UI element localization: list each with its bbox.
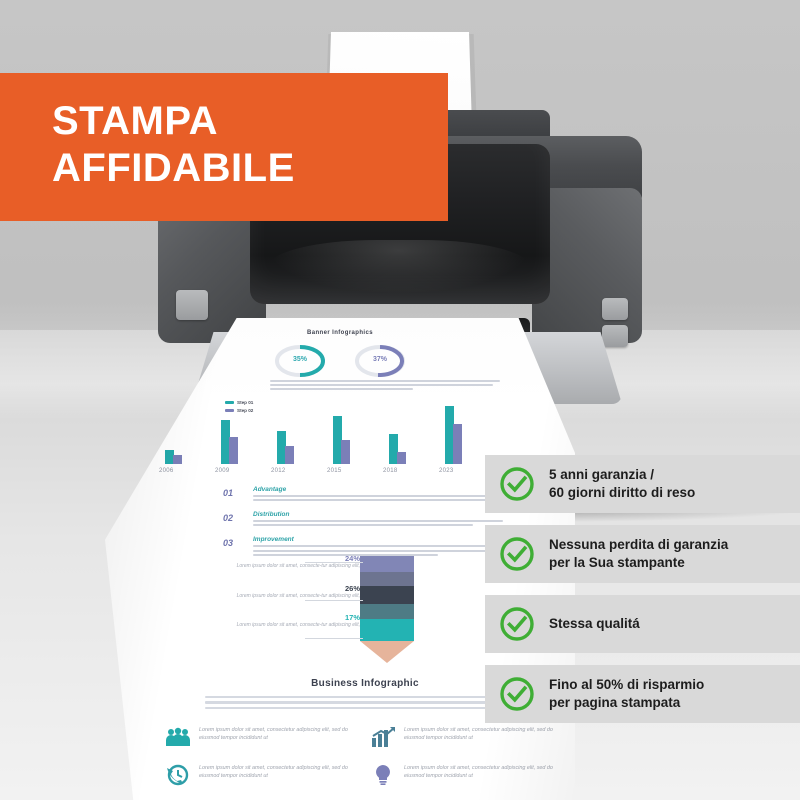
printer-button-left[interactable] — [176, 290, 208, 320]
printer-drum-gloss — [268, 240, 530, 294]
feature-card-text: Nessuna perdita di garanziaper la Sua st… — [549, 536, 728, 572]
check-circle-icon — [499, 466, 535, 502]
feature-card-text: Stessa qualitá — [549, 615, 640, 633]
headline-banner: STAMPAAFFIDABILE — [0, 73, 448, 221]
check-circle-icon — [499, 536, 535, 572]
printer-button-right-bottom[interactable] — [602, 325, 628, 347]
feature-card-text: Fino al 50% di risparmioper pagina stamp… — [549, 676, 704, 712]
feature-card-list: 5 anni garanzia /60 giorni diritto di re… — [485, 455, 800, 735]
feature-line-1: 5 anni garanzia / — [549, 467, 654, 482]
check-circle-icon — [499, 606, 535, 642]
feature-card-savings[interactable]: Fino al 50% di risparmioper pagina stamp… — [485, 665, 800, 723]
feature-line-1: Fino al 50% di risparmio — [549, 677, 704, 692]
headline-line-1: STAMPA — [52, 99, 218, 143]
feature-card-same-quality[interactable]: Stessa qualitá — [485, 595, 800, 653]
printer-button-right-top[interactable] — [602, 298, 628, 320]
feature-card-no-warranty-loss[interactable]: Nessuna perdita di garanziaper la Sua st… — [485, 525, 800, 583]
feature-line-2: per la Sua stampante — [549, 555, 685, 570]
poster-canvas: Banner Infographics 35% 37% — [0, 0, 800, 800]
feature-line-2: per pagina stampata — [549, 695, 680, 710]
feature-card-warranty[interactable]: 5 anni garanzia /60 giorni diritto di re… — [485, 455, 800, 513]
feature-card-text: 5 anni garanzia /60 giorni diritto di re… — [549, 466, 695, 502]
feature-line-1: Nessuna perdita di garanzia — [549, 537, 728, 552]
headline-line-2: AFFIDABILE — [52, 146, 295, 190]
check-circle-icon — [499, 676, 535, 712]
page-title: STAMPAAFFIDABILE — [52, 98, 295, 192]
feature-line-2: 60 giorni diritto di reso — [549, 485, 695, 500]
